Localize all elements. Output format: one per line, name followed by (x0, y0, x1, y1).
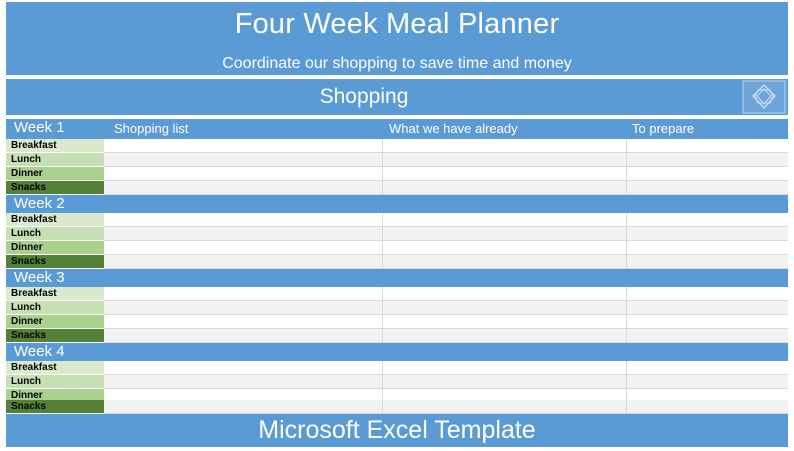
cell-shopping-list[interactable] (104, 315, 383, 329)
table-row: Dinner (6, 315, 788, 329)
week-label-3: Week 3 (14, 270, 65, 285)
cell-have-already[interactable] (383, 315, 627, 329)
cell-have-already[interactable] (383, 255, 627, 269)
cell-to-prepare[interactable] (627, 255, 788, 269)
table-row: Dinner (6, 241, 788, 255)
diamond-octagon-logo-icon (742, 80, 786, 114)
week-band-2: Week 2 (6, 195, 788, 213)
table-row: Lunch (6, 375, 788, 389)
cell-shopping-list[interactable] (104, 181, 383, 195)
meal-label-snacks: Snacks (6, 400, 104, 414)
table-row: Lunch (6, 153, 788, 167)
table-row: Breakfast (6, 287, 788, 301)
column-header-shopping-list: Shopping list (114, 122, 188, 135)
meal-label-snacks: Snacks (6, 329, 104, 343)
cell-shopping-list[interactable] (104, 329, 383, 343)
cell-shopping-list[interactable] (104, 400, 383, 414)
cell-have-already[interactable] (383, 213, 627, 227)
meal-label-lunch: Lunch (6, 227, 104, 241)
table-row: Dinner (6, 167, 788, 181)
cell-to-prepare[interactable] (627, 400, 788, 414)
meal-label-dinner: Dinner (6, 241, 104, 255)
cell-to-prepare[interactable] (627, 167, 788, 181)
column-header-row: Week 1 Shopping list What we have alread… (6, 119, 788, 139)
meal-label-lunch: Lunch (6, 153, 104, 167)
table-row: Breakfast (6, 139, 788, 153)
cell-have-already[interactable] (383, 361, 627, 375)
footer-label: Microsoft Excel Template (258, 418, 535, 443)
footer-band: Microsoft Excel Template (6, 414, 788, 447)
column-header-have-already: What we have already (389, 122, 518, 135)
week-label-2: Week 2 (14, 196, 65, 211)
shopping-section-label: Shopping (6, 86, 722, 107)
column-header-to-prepare: To prepare (632, 122, 694, 135)
shopping-section-band: Shopping (6, 79, 788, 115)
meal-label-breakfast: Breakfast (6, 287, 104, 301)
table-row: Snacks (6, 400, 788, 414)
cell-have-already[interactable] (383, 139, 627, 153)
cell-shopping-list[interactable] (104, 287, 383, 301)
meal-label-dinner: Dinner (6, 315, 104, 329)
meal-label-snacks: Snacks (6, 181, 104, 195)
meal-label-lunch: Lunch (6, 301, 104, 315)
cell-to-prepare[interactable] (627, 139, 788, 153)
week-label-1: Week 1 (14, 120, 65, 135)
cell-shopping-list[interactable] (104, 227, 383, 241)
week-label-4: Week 4 (14, 344, 65, 359)
meal-label-breakfast: Breakfast (6, 213, 104, 227)
cell-have-already[interactable] (383, 227, 627, 241)
table-row: Lunch (6, 227, 788, 241)
cell-have-already[interactable] (383, 400, 627, 414)
table-row: Breakfast (6, 361, 788, 375)
meal-planner-sheet: Four Week Meal Planner Coordinate our sh… (0, 0, 794, 451)
week-band-4: Week 4 (6, 343, 788, 361)
table-row: Snacks (6, 255, 788, 269)
cell-to-prepare[interactable] (627, 329, 788, 343)
cell-have-already[interactable] (383, 375, 627, 389)
meal-label-breakfast: Breakfast (6, 361, 104, 375)
cell-have-already[interactable] (383, 329, 627, 343)
cell-to-prepare[interactable] (627, 241, 788, 255)
cell-to-prepare[interactable] (627, 153, 788, 167)
cell-shopping-list[interactable] (104, 255, 383, 269)
title-block: Four Week Meal Planner Coordinate our sh… (6, 2, 788, 75)
cell-to-prepare[interactable] (627, 213, 788, 227)
cell-to-prepare[interactable] (627, 287, 788, 301)
cell-have-already[interactable] (383, 301, 627, 315)
meal-label-snacks: Snacks (6, 255, 104, 269)
cell-to-prepare[interactable] (627, 227, 788, 241)
cell-shopping-list[interactable] (104, 167, 383, 181)
cell-shopping-list[interactable] (104, 153, 383, 167)
cell-to-prepare[interactable] (627, 375, 788, 389)
cell-shopping-list[interactable] (104, 241, 383, 255)
cell-have-already[interactable] (383, 153, 627, 167)
cell-to-prepare[interactable] (627, 181, 788, 195)
cell-have-already[interactable] (383, 181, 627, 195)
cell-shopping-list[interactable] (104, 375, 383, 389)
meal-label-breakfast: Breakfast (6, 139, 104, 153)
week-band-3: Week 3 (6, 269, 788, 287)
cell-have-already[interactable] (383, 241, 627, 255)
table-row: Snacks (6, 329, 788, 343)
cell-shopping-list[interactable] (104, 213, 383, 227)
meal-label-dinner: Dinner (6, 167, 104, 181)
table-row: Breakfast (6, 213, 788, 227)
table-row: Snacks (6, 181, 788, 195)
cell-shopping-list[interactable] (104, 139, 383, 153)
cell-to-prepare[interactable] (627, 315, 788, 329)
cell-to-prepare[interactable] (627, 301, 788, 315)
page-title: Four Week Meal Planner (235, 10, 560, 39)
cell-shopping-list[interactable] (104, 361, 383, 375)
page-subtitle: Coordinate our shopping to save time and… (222, 56, 572, 72)
cell-have-already[interactable] (383, 167, 627, 181)
table-row: Lunch (6, 301, 788, 315)
cell-to-prepare[interactable] (627, 361, 788, 375)
cell-have-already[interactable] (383, 287, 627, 301)
meal-label-lunch: Lunch (6, 375, 104, 389)
cell-shopping-list[interactable] (104, 301, 383, 315)
